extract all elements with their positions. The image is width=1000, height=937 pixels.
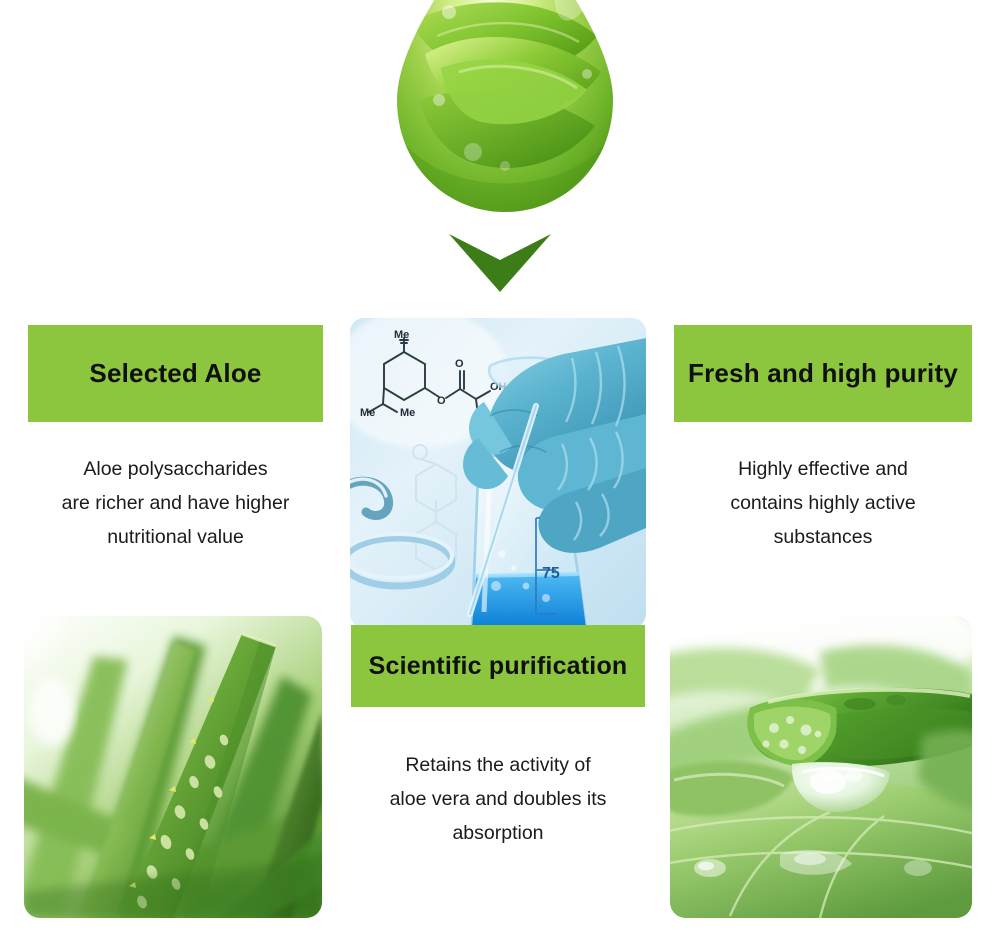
aloe-field-photo	[24, 616, 322, 918]
body-line: nutritional value	[28, 520, 323, 554]
structure-label: Me	[394, 329, 409, 341]
feature-heading-selected-aloe: Selected Aloe	[28, 325, 323, 422]
structure-label: Me	[400, 407, 415, 419]
structure-label: Me	[360, 407, 375, 419]
structure-label: O	[455, 358, 464, 370]
feature-heading-label: Selected Aloe	[89, 358, 261, 389]
structure-label: O	[437, 395, 446, 407]
feature-body-fresh-high-purity: Highly effective and contains highly act…	[674, 452, 972, 554]
body-line: Retains the activity of	[351, 748, 645, 782]
hero-droplet	[381, 0, 629, 222]
body-line: Highly effective and	[674, 452, 972, 486]
aloe-droplet-icon	[381, 0, 629, 222]
body-line: are richer and have higher	[28, 486, 323, 520]
feature-heading-fresh-high-purity: Fresh and high purity	[674, 325, 972, 422]
aloe-gel-photo	[670, 616, 972, 918]
laboratory-photo: Me Me Me O O OH	[350, 318, 646, 628]
body-line: contains highly active	[674, 486, 972, 520]
body-line: absorption	[351, 816, 645, 850]
flask-graduation-label: 75	[542, 565, 560, 582]
feature-heading-label: Fresh and high purity	[688, 358, 958, 389]
body-line: Aloe polysaccharides	[28, 452, 323, 486]
down-chevron-arrow-icon	[447, 232, 553, 294]
body-line: substances	[674, 520, 972, 554]
feature-heading-scientific-purification: Scientific purification	[351, 625, 645, 707]
feature-body-scientific-purification: Retains the activity of aloe vera and do…	[351, 748, 645, 850]
feature-heading-label: Scientific purification	[369, 652, 628, 681]
feature-body-selected-aloe: Aloe polysaccharides are richer and have…	[28, 452, 323, 554]
feature-panel: Selected Aloe Aloe polysaccharides are r…	[0, 0, 1000, 937]
body-line: aloe vera and doubles its	[351, 782, 645, 816]
